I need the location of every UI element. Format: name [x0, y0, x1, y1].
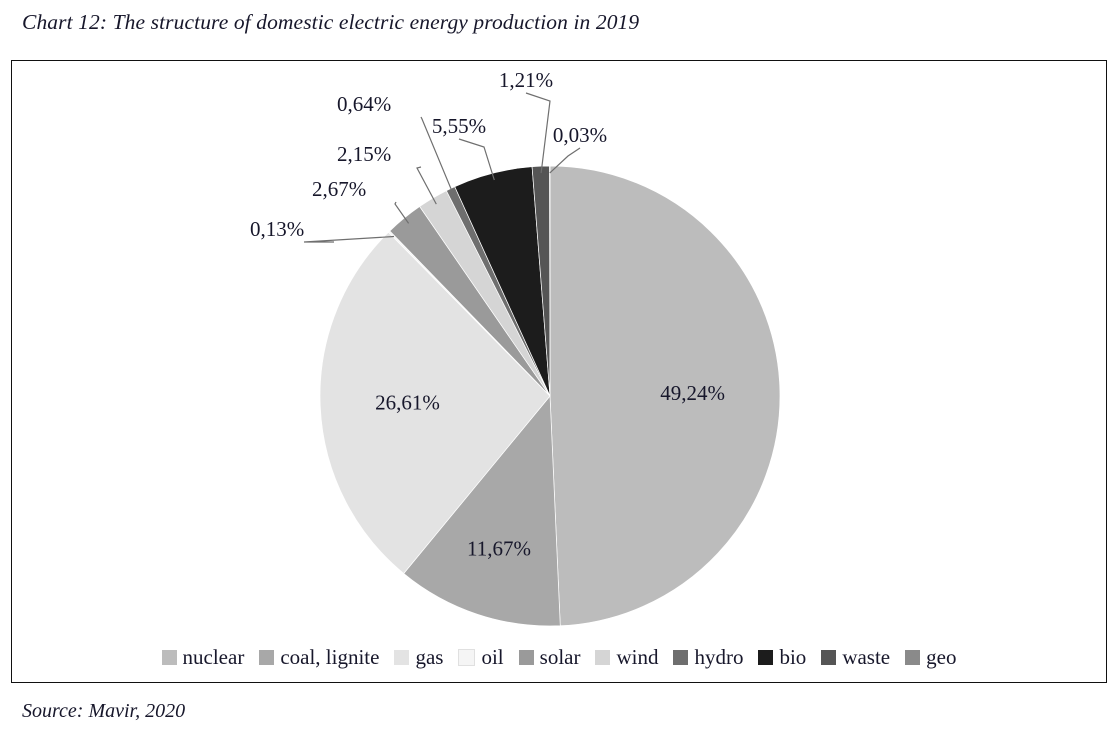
- legend-item-hydro[interactable]: hydro: [673, 647, 743, 668]
- legend-item-wind[interactable]: wind: [595, 647, 658, 668]
- legend-label: waste: [842, 647, 890, 668]
- pie-chart-plot: 49,24%11,67%26,61%0,13%2,67%2,15%0,64%5,…: [12, 61, 1108, 636]
- pie-value-label: 2,67%: [312, 177, 366, 201]
- legend-swatch-icon: [162, 650, 177, 665]
- legend-swatch-icon: [673, 650, 688, 665]
- legend-swatch-icon: [821, 650, 836, 665]
- legend-swatch-icon: [905, 650, 920, 665]
- legend-item-geo[interactable]: geo: [905, 647, 956, 668]
- callout-leader-line: [417, 167, 436, 204]
- legend-label: wind: [616, 647, 658, 668]
- pie-value-label: 0,64%: [337, 92, 391, 116]
- legend-item-bio[interactable]: bio: [758, 647, 806, 668]
- callout-leader-line: [526, 93, 550, 173]
- source-note: Source: Mavir, 2020: [22, 700, 185, 723]
- pie-value-label: 5,55%: [432, 114, 486, 138]
- legend-item-solar[interactable]: solar: [519, 647, 581, 668]
- pie-value-label: 1,21%: [499, 68, 553, 92]
- pie-value-label: 0,03%: [553, 123, 607, 147]
- chart-legend: nuclearcoal, lignitegasoilsolarwindhydro…: [12, 647, 1106, 668]
- chart-title: Chart 12: The structure of domestic elec…: [22, 10, 639, 35]
- pie-svg: 49,24%11,67%26,61%0,13%2,67%2,15%0,64%5,…: [12, 61, 1108, 636]
- legend-swatch-icon: [394, 650, 409, 665]
- legend-label: geo: [926, 647, 956, 668]
- legend-label: coal, lignite: [280, 647, 379, 668]
- legend-item-oil[interactable]: oil: [458, 647, 503, 668]
- legend-swatch-icon: [595, 650, 610, 665]
- legend-swatch-icon: [758, 650, 773, 665]
- legend-swatch-icon: [259, 650, 274, 665]
- pie-value-label: 26,61%: [375, 390, 440, 414]
- legend-label: gas: [415, 647, 443, 668]
- legend-label: nuclear: [183, 647, 245, 668]
- legend-item-nuclear[interactable]: nuclear: [162, 647, 245, 668]
- pie-value-label: 11,67%: [467, 537, 531, 561]
- legend-item-waste[interactable]: waste: [821, 647, 890, 668]
- legend-label: solar: [540, 647, 581, 668]
- pie-value-label: 2,15%: [337, 142, 391, 166]
- pie-value-label: 49,24%: [660, 381, 725, 405]
- legend-label: hydro: [694, 647, 743, 668]
- legend-label: oil: [481, 647, 503, 668]
- legend-swatch-icon: [519, 650, 534, 665]
- legend-item-gas[interactable]: gas: [394, 647, 443, 668]
- legend-swatch-icon: [458, 649, 475, 666]
- pie-value-label: 0,13%: [250, 217, 304, 241]
- legend-item-coal-lignite[interactable]: coal, lignite: [259, 647, 379, 668]
- chart-frame: 49,24%11,67%26,61%0,13%2,67%2,15%0,64%5,…: [11, 60, 1107, 683]
- legend-label: bio: [779, 647, 806, 668]
